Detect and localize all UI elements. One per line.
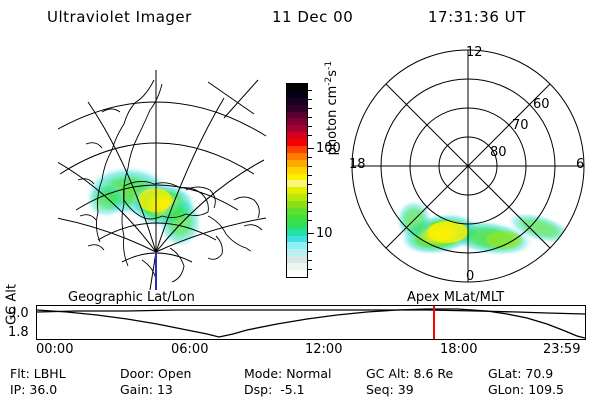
colorbar-band (287, 174, 307, 181)
status-filter: Flt: LBHL (10, 368, 66, 381)
colorbar-minor-tick (308, 242, 312, 243)
colorbar-minor-tick (308, 202, 312, 203)
colorbar-band (287, 91, 307, 98)
mlt-spokes (352, 50, 584, 282)
colorbar-band (287, 167, 307, 174)
geographic-image-panel (58, 40, 274, 292)
colorbar-band (287, 229, 307, 236)
colorbar-minor-tick (308, 90, 312, 91)
aurora-emission-apex (396, 200, 576, 261)
colorbar-minor-tick (308, 157, 312, 158)
status-glon: GLon: 109.5 (488, 384, 564, 397)
mlt-label-6: 6 (576, 158, 584, 171)
colorbar-band (287, 256, 307, 263)
colorbar-axis-label: photon cm-2s-1 (324, 28, 340, 188)
colorbar-minor-tick (308, 175, 312, 176)
colorbar-band (287, 105, 307, 112)
mlt-label-12: 12 (466, 46, 483, 59)
status-seq: Seq: 39 (366, 384, 414, 397)
mlt-label-0: 0 (466, 270, 474, 283)
colorbar-band (287, 146, 307, 153)
orbit-y-tick-top: 9.0 (8, 307, 29, 320)
colorbar-major-tick (308, 148, 314, 149)
colorbar-band (287, 263, 307, 270)
intensity-colorbar (286, 83, 308, 278)
colorbar-band (287, 98, 307, 105)
colorbar-band (287, 215, 307, 222)
colorbar-band (287, 236, 307, 243)
colorbar-tick-label-100: 100 (316, 142, 341, 155)
colorbar-minor-tick (308, 260, 312, 261)
colorbar-band (287, 160, 307, 167)
status-mode: Mode: Normal (244, 368, 332, 381)
colorbar-band (287, 208, 307, 215)
colorbar-minor-tick (308, 166, 312, 167)
colorbar-band (287, 201, 307, 208)
orbit-altitude-curve (37, 306, 585, 339)
colorbar-minor-tick (308, 108, 312, 109)
colorbar-band (287, 249, 307, 256)
orbit-altitude-plot (36, 305, 586, 340)
colorbar-band (287, 242, 307, 249)
status-ip: IP: 36.0 (10, 384, 57, 397)
apex-mlat-mlt-panel (344, 42, 594, 292)
status-gain: Gain: 13 (120, 384, 173, 397)
orbit-y-axis-label: GC Alt (5, 279, 20, 331)
observation-date: 11 Dec 00 (272, 8, 353, 26)
colorbar-band (287, 139, 307, 146)
apex-panel-caption: Apex MLat/MLT (407, 290, 504, 305)
colorbar-band (287, 118, 307, 125)
mlat-ring-label-70: 70 (512, 119, 529, 132)
instrument-title: Ultraviolet Imager (47, 8, 192, 26)
observation-time: 17:31:36 UT (428, 8, 526, 26)
uvi-display-window: Ultraviolet Imager 11 Dec 00 17:31:36 UT (0, 0, 600, 400)
colorbar-minor-tick (308, 269, 312, 270)
colorbar-band (287, 153, 307, 160)
colorbar-band (287, 194, 307, 201)
status-glat: GLat: 70.9 (488, 368, 553, 381)
colorbar-minor-tick (308, 211, 312, 212)
orbit-x-tick-2359: 23:59 (543, 343, 580, 356)
colorbar-band (287, 187, 307, 194)
colorbar-major-tick (308, 233, 314, 234)
orbit-x-tick-1800: 18:00 (440, 343, 477, 356)
orbit-x-tick-0600: 06:00 (171, 343, 208, 356)
colorbar-minor-tick (308, 135, 312, 136)
status-dsp: Dsp: -5.1 (244, 384, 305, 397)
mlat-ring-label-80: 80 (490, 146, 507, 159)
colorbar-band (287, 84, 307, 91)
colorbar-band (287, 112, 307, 119)
orbit-y-tick-bottom: 1.8 (8, 326, 29, 339)
colorbar-band (287, 125, 307, 132)
orbit-x-tick-1200: 12:00 (305, 343, 342, 356)
status-door: Door: Open (120, 368, 191, 381)
mlat-ring-label-60: 60 (533, 98, 550, 111)
current-time-marker (433, 306, 435, 339)
geographic-panel-caption: Geographic Lat/Lon (68, 290, 195, 305)
colorbar-minor-tick (308, 117, 312, 118)
colorbar-band (287, 132, 307, 139)
colorbar-minor-tick (308, 126, 312, 127)
status-gc-alt: GC Alt: 8.6 Re (366, 368, 453, 381)
colorbar-band (287, 222, 307, 229)
orbit-x-tick-0000: 00:00 (36, 343, 73, 356)
colorbar-minor-tick (308, 251, 312, 252)
colorbar-band (287, 180, 307, 187)
mlt-label-18: 18 (349, 158, 366, 171)
colorbar-minor-tick (308, 220, 312, 221)
colorbar-band (287, 270, 307, 277)
colorbar-minor-tick (308, 99, 312, 100)
colorbar-tick-label-10: 10 (316, 227, 333, 240)
colorbar-minor-tick (308, 193, 312, 194)
colorbar-minor-tick (308, 184, 312, 185)
